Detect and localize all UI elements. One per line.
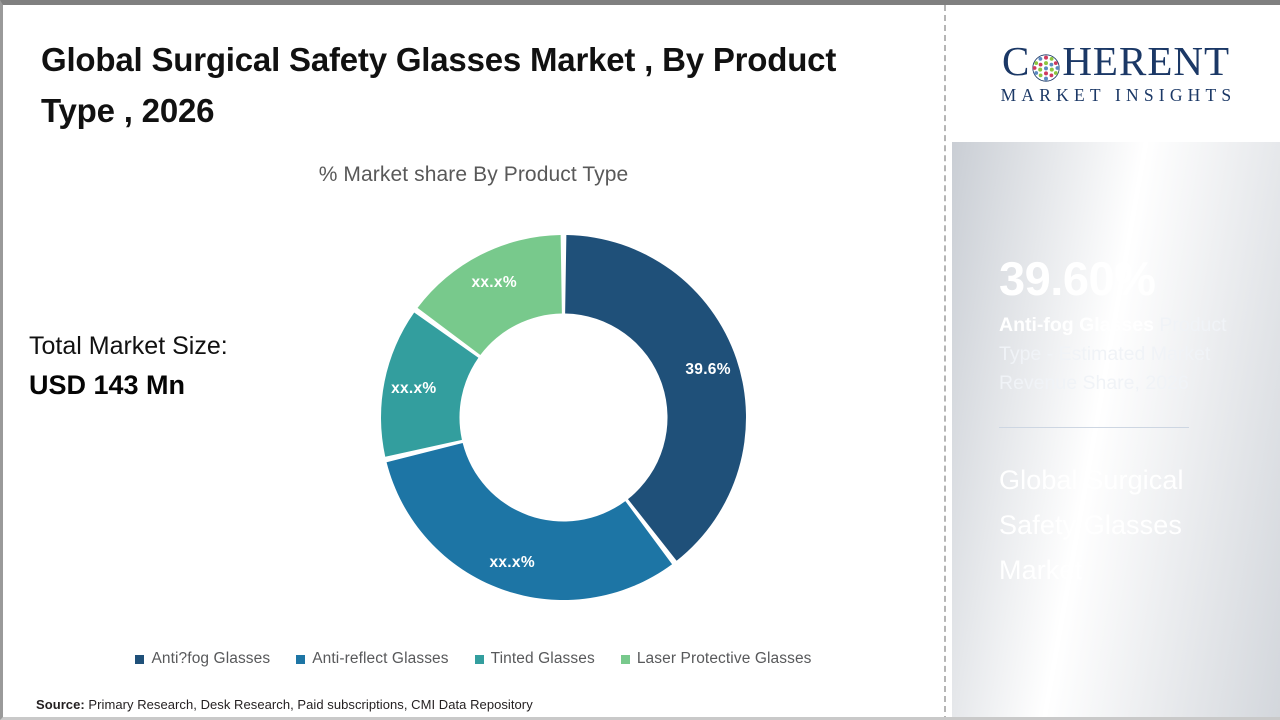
source-label: Source: <box>36 697 85 712</box>
vertical-dashed-divider <box>944 5 946 720</box>
legend-item[interactable]: Laser Protective Glasses <box>621 650 812 668</box>
donut-slice-label: xx.x% <box>391 380 436 397</box>
company-logo[interactable]: C <box>952 5 1280 142</box>
page-title: Global Surgical Safety Glasses Market , … <box>41 34 851 136</box>
legend-item[interactable]: Anti-reflect Glasses <box>296 650 448 668</box>
total-market-size: Total Market Size: USD 143 Mn <box>29 327 329 405</box>
legend-label: Anti?fog Glasses <box>151 650 270 668</box>
legend-swatch-icon <box>135 655 144 664</box>
total-market-size-label: Total Market Size: <box>29 327 329 365</box>
stat-description-highlight: Anti-fog Glasses <box>999 314 1154 336</box>
legend-label: Tinted Glasses <box>491 650 595 668</box>
donut-slice[interactable] <box>565 235 746 561</box>
logo-letter-c: C <box>1002 41 1030 82</box>
donut-slice[interactable] <box>387 443 672 600</box>
donut-slice-label: xx.x% <box>471 274 516 291</box>
legend-item[interactable]: Tinted Glasses <box>475 650 595 668</box>
legend-item[interactable]: Anti?fog Glasses <box>135 650 270 668</box>
legend-label: Anti-reflect Glasses <box>312 650 448 668</box>
legend-swatch-icon <box>621 655 630 664</box>
donut-chart-svg: 39.6%xx.x%xx.x%xx.x% <box>381 235 746 600</box>
globe-dots-icon <box>1031 49 1061 79</box>
logo-wordmark: C <box>1002 41 1230 82</box>
stat-percentage: 39.60% <box>999 254 1260 303</box>
legend-swatch-icon <box>475 655 484 664</box>
legend-label: Laser Protective Glasses <box>637 650 812 668</box>
legend-swatch-icon <box>296 655 305 664</box>
highlight-panel: 39.60% Anti-fog Glasses Product Type - E… <box>952 142 1280 720</box>
market-name: Global Surgical Safety Glasses Market <box>999 458 1239 593</box>
infographic-canvas: Global Surgical Safety Glasses Market , … <box>0 0 1280 720</box>
donut-slice-group <box>381 235 746 600</box>
highlight-panel-divider <box>999 427 1189 428</box>
total-market-size-value: USD 143 Mn <box>29 365 329 405</box>
right-panel: C <box>952 5 1280 720</box>
stat-description: Anti-fog Glasses Product Type - Estimate… <box>999 311 1249 398</box>
logo-tagline: MARKET INSIGHTS <box>996 85 1237 106</box>
highlight-panel-content: 39.60% Anti-fog Glasses Product Type - E… <box>952 254 1280 593</box>
donut-chart: 39.6%xx.x%xx.x%xx.x% <box>381 235 746 600</box>
source-note: Source: Primary Research, Desk Research,… <box>36 697 533 712</box>
source-text: Primary Research, Desk Research, Paid su… <box>85 697 533 712</box>
chart-legend: Anti?fog GlassesAnti-reflect GlassesTint… <box>3 650 944 668</box>
main-content-panel: Global Surgical Safety Glasses Market , … <box>3 5 944 720</box>
logo-wordmark-text: HERENT <box>1062 41 1230 82</box>
chart-subtitle: % Market share By Product Type <box>3 163 944 187</box>
donut-slice-label: xx.x% <box>489 554 534 571</box>
donut-slice-label: 39.6% <box>685 361 730 378</box>
